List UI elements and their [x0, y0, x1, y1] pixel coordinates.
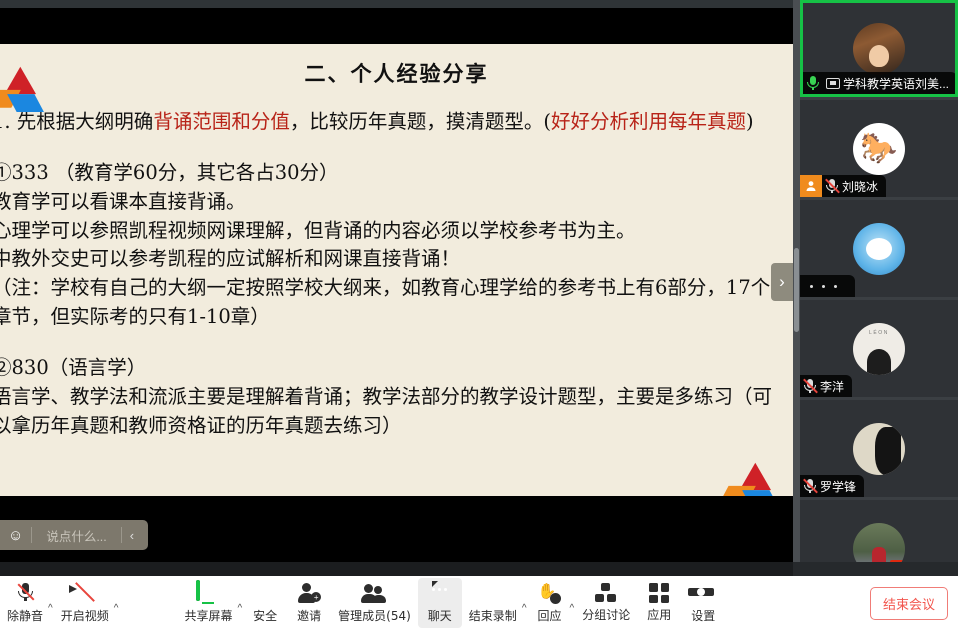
- toolbar-label: 开启视频: [61, 607, 109, 624]
- participant-tile[interactable]: LÉON 李洋: [800, 300, 958, 397]
- toolbar-button-settings[interactable]: 设置: [681, 578, 725, 628]
- toolbar-label: 设置: [691, 607, 715, 624]
- participant-name-bar: 李洋: [800, 375, 852, 397]
- avatar: [853, 123, 905, 175]
- slide-line: ①333 （教育学60分，其它各占30分）: [0, 159, 785, 188]
- toolbar-button-invite[interactable]: + 邀请: [287, 578, 331, 628]
- run-5: ): [746, 110, 754, 133]
- wps-logo-icon: [722, 461, 777, 496]
- participant-name: 李洋: [820, 378, 844, 395]
- avatar: [853, 223, 905, 275]
- slide-line: ②830（语言学）: [0, 354, 785, 383]
- panel-scrollbar-thumb[interactable]: [794, 248, 799, 332]
- shield-check-icon: [253, 582, 277, 604]
- run-2: 背诵范围和分值: [153, 110, 290, 133]
- slide-paragraph-3: ②830（语言学） 语言学、教学法和流派主要是理解着背诵；教学法部分的教学设计题…: [0, 354, 793, 441]
- avatar: LÉON: [853, 323, 905, 375]
- microphone-muted-icon: [800, 478, 820, 494]
- toolbar-button-breakout[interactable]: 分组讨论: [575, 578, 637, 628]
- participant-name: 罗学锋: [820, 478, 856, 495]
- toolbar-label: 管理成员(54): [338, 607, 411, 624]
- person-add-icon: +: [297, 582, 321, 604]
- slide-line: 中教外交史可以参考凯程的应试解析和网课直接背诵！: [0, 245, 785, 274]
- toolbar-button-share[interactable]: 共享屏幕: [177, 578, 239, 628]
- slide-line: （注：学校有自己的大纲一定按照学校大纲来，如教育心理学给的参考书上有6部分，17…: [0, 274, 785, 332]
- participant-name-bar: 罗学锋: [800, 475, 864, 497]
- chat-input-placeholder[interactable]: 说点什么...: [32, 526, 120, 545]
- toolbar-button-apps[interactable]: 应用: [637, 578, 681, 628]
- toolbar-button-security[interactable]: 安全: [243, 578, 287, 628]
- microphone-muted-icon: [822, 178, 842, 194]
- toolbar-label: 结束录制: [469, 607, 517, 624]
- run-4: 好好分析利用每年真题: [551, 110, 746, 133]
- end-meeting-button[interactable]: 结束会议: [870, 587, 948, 620]
- chat-bubble-icon: [428, 582, 452, 604]
- loading-dots-icon: [800, 285, 847, 288]
- smiley-icon[interactable]: ☺: [0, 527, 31, 544]
- toolbar-label: 回应: [538, 607, 562, 624]
- window-top-bar: [0, 0, 793, 8]
- run-3: ，比较历年真题，摸清题型。(: [290, 110, 551, 133]
- participant-tile[interactable]: 刘晓冰: [800, 100, 958, 197]
- avatar: [853, 23, 905, 75]
- microphone-on-icon: [803, 75, 823, 91]
- participant-tile[interactable]: [800, 200, 958, 297]
- gear-icon: [691, 582, 715, 604]
- camera-off-icon: [70, 582, 100, 604]
- toolbar-button-participants[interactable]: 管理成员(54): [331, 578, 418, 628]
- slide-line: 心理学可以参照凯程视频网课理解，但背诵的内容必须以学校参考书为主。: [0, 217, 785, 246]
- microphone-muted-icon: [13, 582, 37, 604]
- shared-slide: 二、个人经验分享 1. 先根据大纲明确背诵范围和分值，比较历年真题，摸清题型。(…: [0, 44, 793, 496]
- slide-line: 语言学、教学法和流派主要是理解着背诵；教学法部分的教学设计题型，主要是多练习（可…: [0, 383, 785, 441]
- participants-panel: 学科教学英语刘美... 刘晓冰 LÉON: [793, 0, 958, 562]
- participant-tile[interactable]: 罗学锋: [800, 400, 958, 497]
- participant-name: 学科教学英语刘美...: [843, 75, 949, 92]
- toolbar-label: 除静音: [7, 607, 43, 624]
- participant-tile[interactable]: 学科教学英语刘美...: [800, 0, 958, 97]
- participant-name-bar: 学科教学英语刘美...: [803, 72, 957, 94]
- apps-grid-icon: [649, 583, 669, 603]
- microphone-muted-icon: [800, 378, 820, 394]
- slide-paragraph-2: ①333 （教育学60分，其它各占30分） 教育学可以看课本直接背诵。 心理学可…: [0, 159, 793, 332]
- stop-record-icon: [481, 582, 505, 604]
- share-screen-icon: [196, 582, 220, 604]
- people-icon: [361, 582, 387, 604]
- toolbar-label: 安全: [253, 607, 277, 624]
- toolbar-button-chat[interactable]: 聊天: [418, 578, 462, 628]
- in-slide-chat-bar[interactable]: ☺ 说点什么... ‹: [0, 520, 148, 550]
- toolbar-button-video[interactable]: 开启视频: [54, 578, 116, 628]
- panel-bottom-gap: [793, 562, 958, 576]
- panel-scrollbar-track[interactable]: [793, 0, 800, 562]
- raise-hand-icon: ✋: [538, 582, 562, 604]
- breakout-rooms-icon: [595, 583, 617, 603]
- toolbar-label: 邀请: [297, 607, 321, 624]
- avatar: [853, 423, 905, 475]
- slide-paragraph-1: 1. 先根据大纲明确背诵范围和分值，比较历年真题，摸清题型。(好好分析利用每年真…: [0, 108, 793, 137]
- host-badge-icon: [800, 175, 822, 197]
- toolbar-button-record[interactable]: 结束录制: [462, 578, 524, 628]
- shared-screen-stage: 二、个人经验分享 1. 先根据大纲明确背诵范围和分值，比较历年真题，摸清题型。(…: [0, 8, 793, 562]
- toolbar-label: 聊天: [428, 607, 452, 624]
- wps-logo-icon: [0, 65, 41, 120]
- screen-share-icon: [823, 78, 843, 89]
- toolbar-label: 分组讨论: [582, 606, 630, 623]
- slide-line: 教育学可以看课本直接背诵。: [0, 188, 785, 217]
- participant-name-bar: 刘晓冰: [800, 175, 886, 197]
- toolbar-button-mute[interactable]: 除静音: [0, 578, 50, 628]
- slide-title: 二、个人经验分享: [0, 58, 793, 88]
- participant-name-bar: [800, 275, 855, 297]
- toolbar-label: 应用: [647, 606, 671, 623]
- participant-tiles: 学科教学英语刘美... 刘晓冰 LÉON: [800, 0, 958, 562]
- toolbar-button-reactions[interactable]: ✋ 回应: [528, 578, 572, 628]
- chevron-left-icon[interactable]: ‹: [122, 528, 142, 543]
- participant-name: 刘晓冰: [842, 178, 878, 195]
- toolbar-label: 共享屏幕: [184, 607, 232, 624]
- meeting-toolbar: 除静音 ^ 开启视频 ^ 共享屏幕 ^ 安全 + 邀请 管理成员(54): [0, 576, 958, 630]
- next-slide-button[interactable]: ›: [771, 263, 793, 301]
